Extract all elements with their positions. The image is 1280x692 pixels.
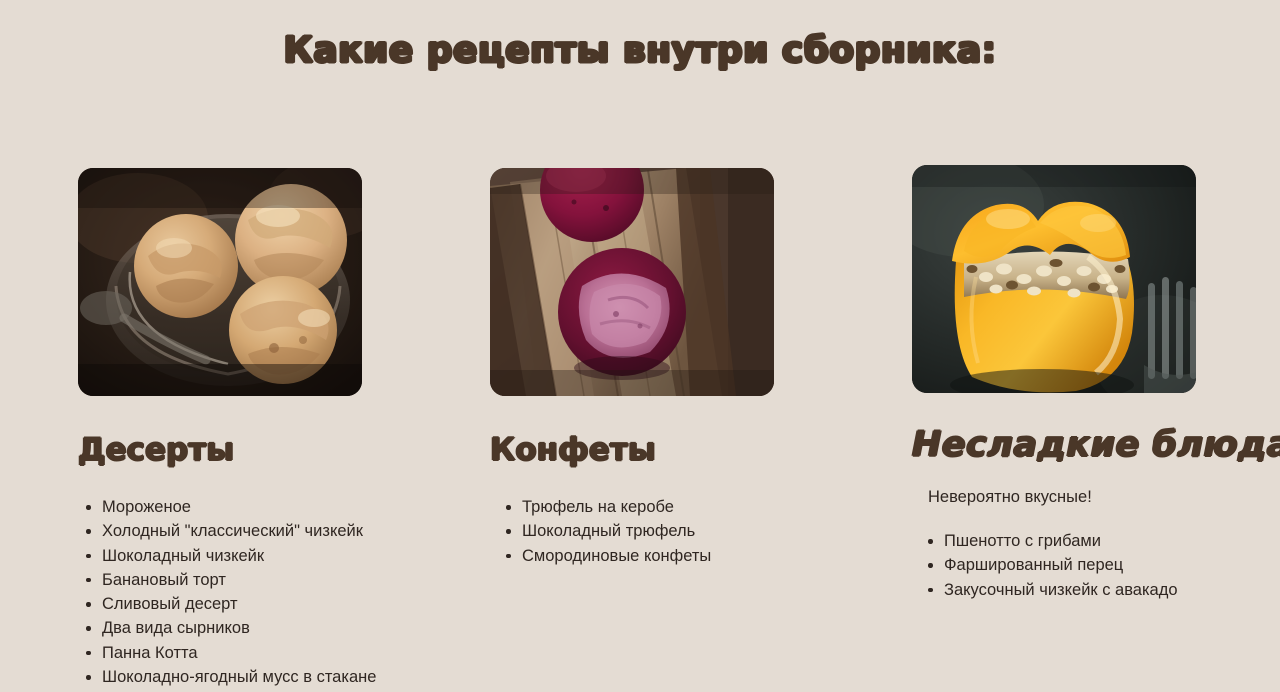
recipe-list-savory: Пшенотто с грибами Фаршированный перец З… — [926, 529, 1272, 602]
list-item: Панна Котта — [84, 641, 438, 665]
stuffed-pepper-photo — [912, 165, 1196, 393]
recipe-list-desserts: Мороженое Холодный "классический" чизкей… — [84, 495, 438, 689]
ice-cream-scoops-photo — [78, 168, 362, 396]
list-item: Шоколадно-ягодный мусс в стакане — [84, 665, 438, 689]
list-item: Сливовый десерт — [84, 592, 438, 616]
berry-truffles-photo — [490, 168, 774, 396]
recipe-column-desserts: Десерты Мороженое Холодный "классический… — [78, 168, 438, 689]
list-item: Шоколадный чизкейк — [84, 544, 438, 568]
list-item: Холодный "классический" чизкейк — [84, 519, 438, 543]
recipe-column-savory: Несладкие блюда Невероятно вкусные! Пшен… — [912, 165, 1272, 602]
recipe-columns: Десерты Мороженое Холодный "классический… — [0, 0, 1280, 692]
list-item: Фаршированный перец — [926, 553, 1272, 577]
column-heading-savory: Несладкие блюда — [912, 425, 1272, 465]
list-item: Закусочный чизкейк с авакадо — [926, 578, 1272, 602]
list-item: Трюфель на керобе — [504, 495, 850, 519]
list-item: Мороженое — [84, 495, 438, 519]
list-item: Два вида сырников — [84, 616, 438, 640]
recipe-column-candies: Конфеты Трюфель на керобе Шоколадный трю… — [490, 168, 850, 568]
list-item: Пшенотто с грибами — [926, 529, 1272, 553]
savory-intro-text: Невероятно вкусные! — [928, 488, 1272, 507]
column-heading-desserts: Десерты — [78, 432, 438, 468]
list-item: Шоколадный трюфель — [504, 519, 850, 543]
recipe-list-candies: Трюфель на керобе Шоколадный трюфель Смо… — [504, 495, 850, 568]
list-item: Банановый торт — [84, 568, 438, 592]
column-heading-candies: Конфеты — [490, 432, 850, 468]
list-item: Смородиновые конфеты — [504, 544, 850, 568]
